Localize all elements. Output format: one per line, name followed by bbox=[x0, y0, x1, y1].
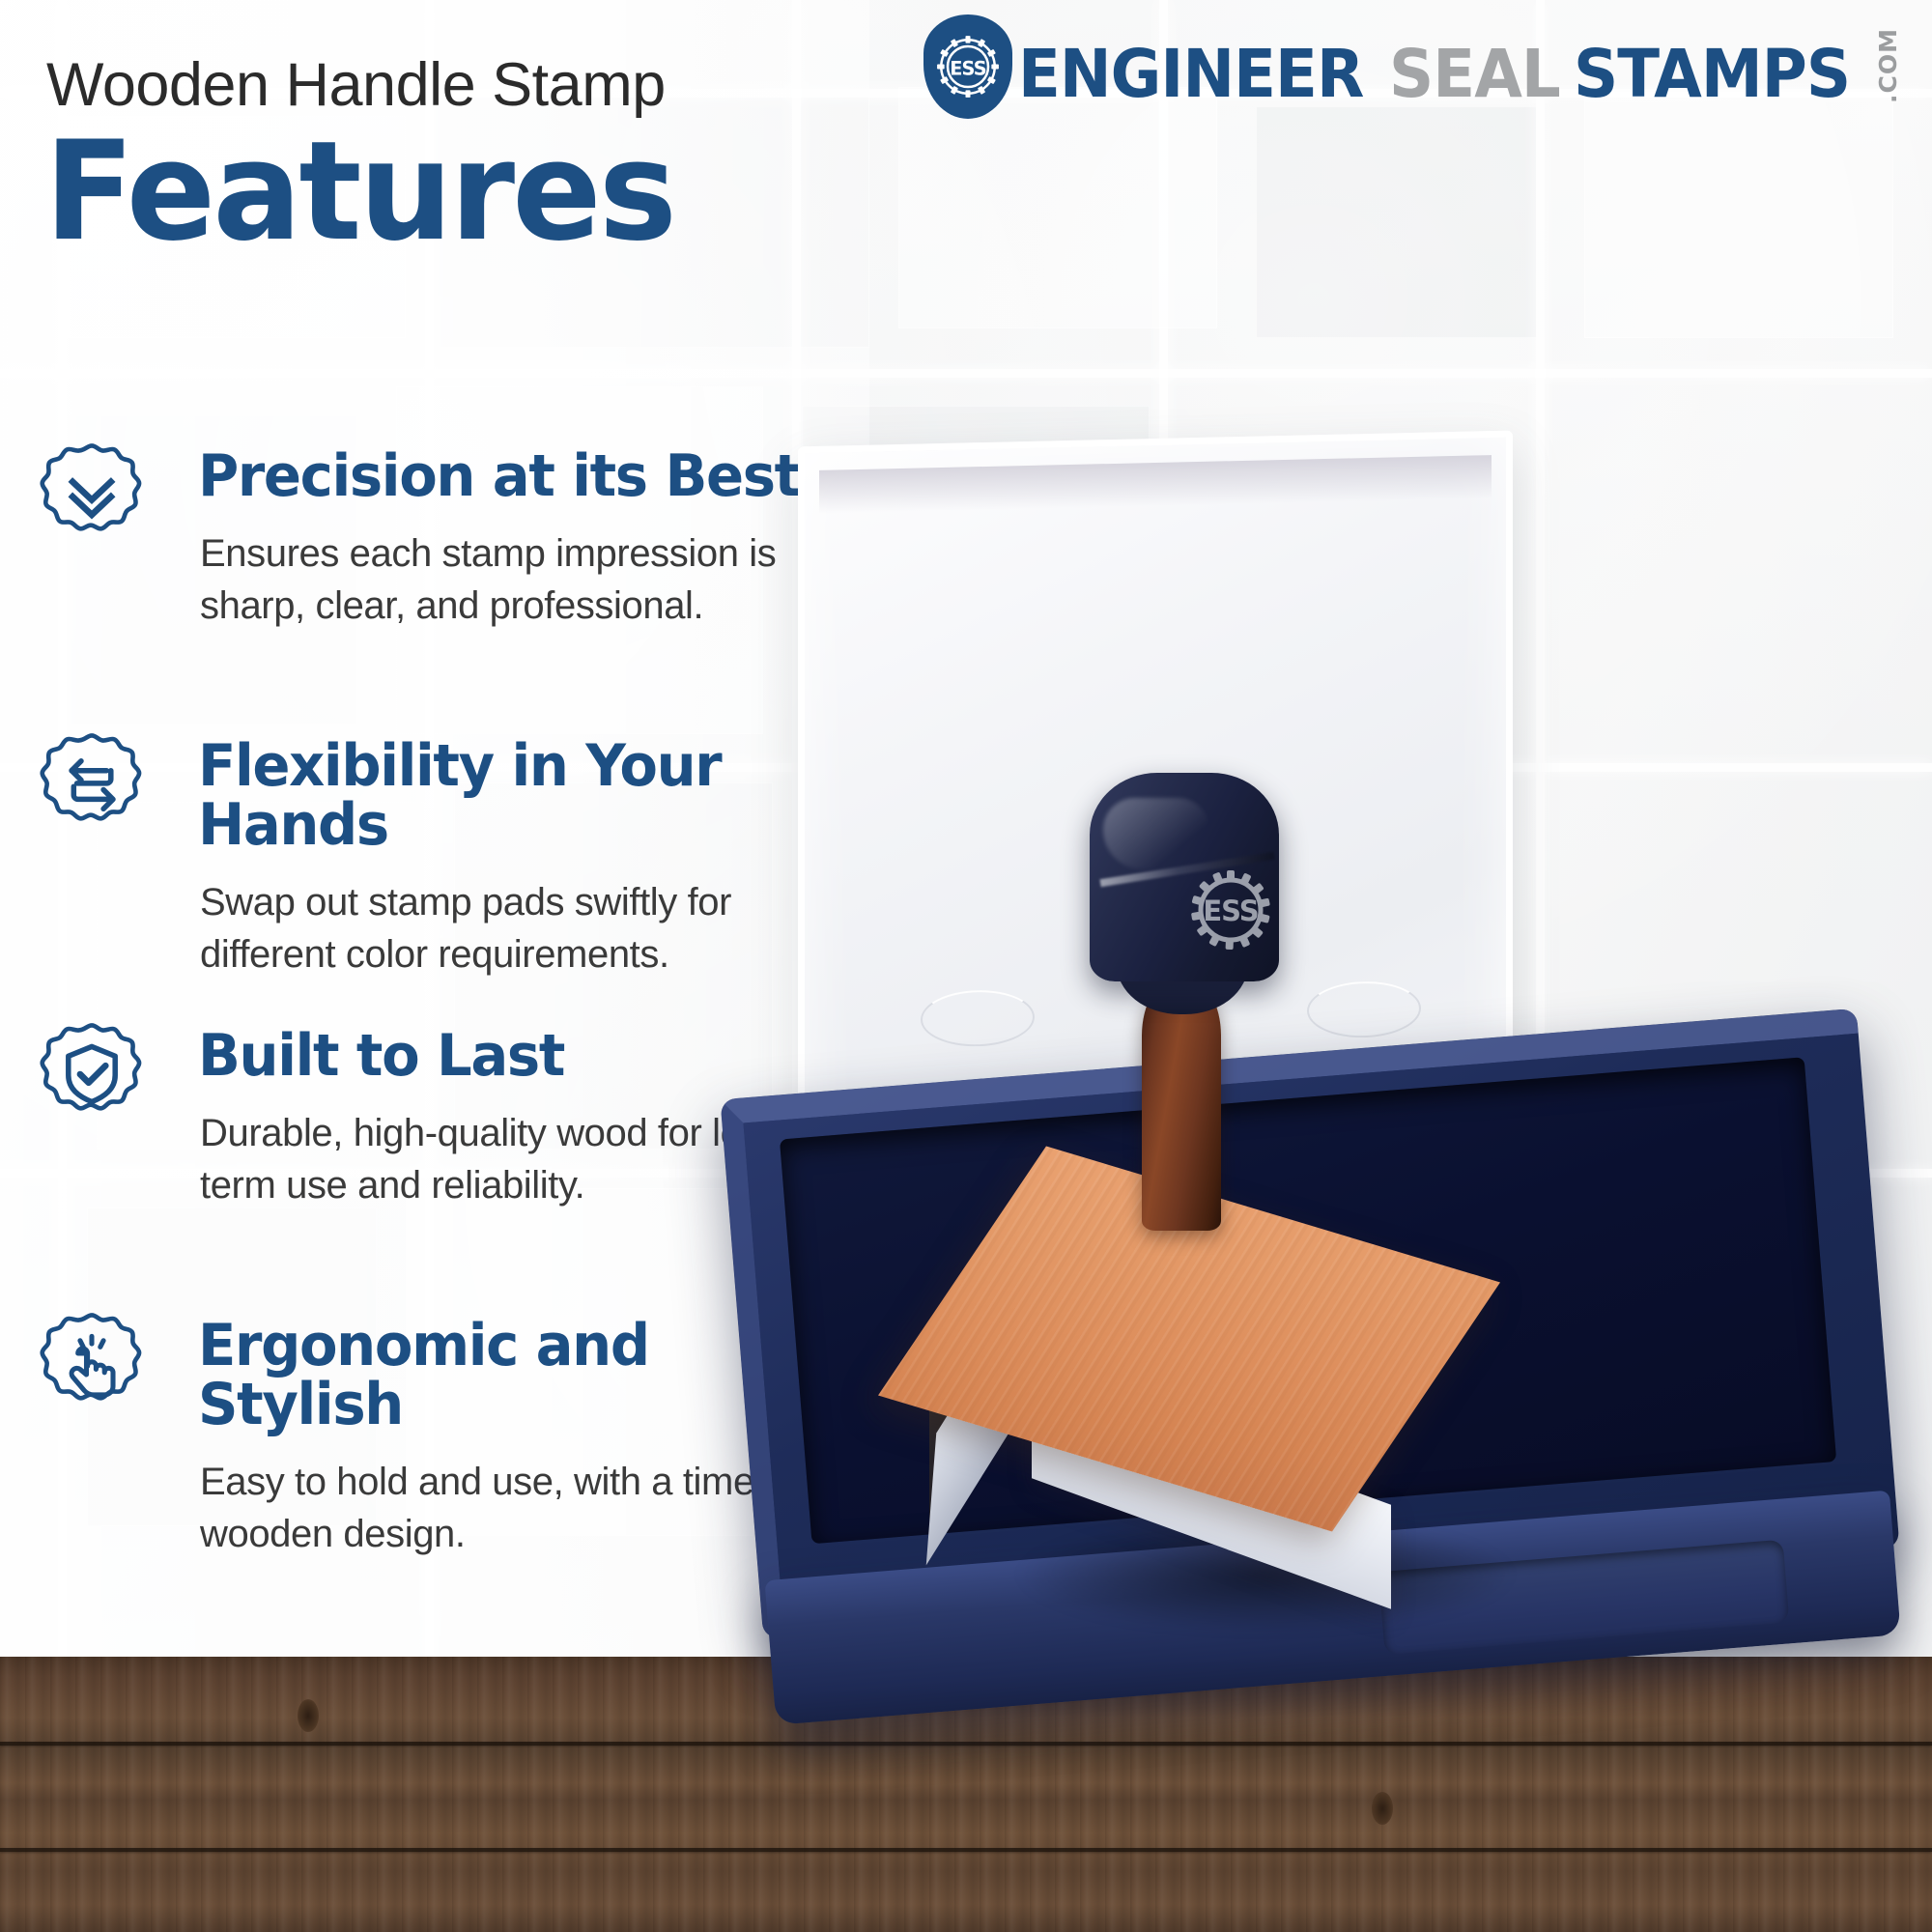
feature-item: Flexibility in Your Hands Swap out stamp… bbox=[39, 729, 850, 1019]
ess-gear-icon: ESS bbox=[1182, 862, 1279, 958]
feature-title: Precision at its Best bbox=[198, 440, 824, 506]
feature-title: Built to Last bbox=[198, 1019, 824, 1086]
feature-title: Flexibility in Your Hands bbox=[198, 729, 824, 855]
logo-word-engineer: ENGINEER bbox=[1018, 44, 1363, 105]
badge-chevrons-down-icon bbox=[39, 441, 145, 548]
wooden-handle-stamp: ESS bbox=[869, 773, 1488, 1642]
logo-tld: .COM bbox=[1874, 28, 1902, 103]
feature-title: Ergonomic and Stylish bbox=[198, 1309, 824, 1435]
knob-logo-text: ESS bbox=[1203, 895, 1258, 927]
logo-word-seal: SEAL bbox=[1389, 44, 1560, 105]
floor-wood-knot bbox=[298, 1699, 319, 1732]
stamp-handle-knob: ESS bbox=[1090, 773, 1279, 981]
badge-shield-check-icon bbox=[39, 1021, 145, 1127]
logo-word-stamps: STAMPS bbox=[1574, 44, 1850, 105]
svg-text:ESS: ESS bbox=[950, 57, 986, 79]
feature-list: Precision at its Best Ensures each stamp… bbox=[39, 440, 850, 1599]
knob-highlight bbox=[1103, 798, 1209, 869]
badge-click-hand-icon bbox=[39, 1311, 145, 1417]
badge-swap-arrows-icon bbox=[39, 731, 145, 838]
feature-item: Ergonomic and Stylish Easy to hold and u… bbox=[39, 1309, 850, 1599]
page-kicker: Wooden Handle Stamp bbox=[46, 50, 666, 120]
product-photo: ESS bbox=[734, 386, 1932, 1932]
stamp-handle-neck bbox=[1142, 978, 1221, 1231]
feature-item: Precision at its Best Ensures each stamp… bbox=[39, 440, 850, 729]
brand-logo[interactable]: ESS ENGINEER SEAL STAMPS .COM bbox=[914, 14, 1918, 120]
page-title: Features bbox=[44, 124, 674, 261]
poster-canvas: Wooden Handle Stamp Features bbox=[0, 0, 1932, 1932]
ess-badge-icon: ESS bbox=[914, 14, 1014, 119]
